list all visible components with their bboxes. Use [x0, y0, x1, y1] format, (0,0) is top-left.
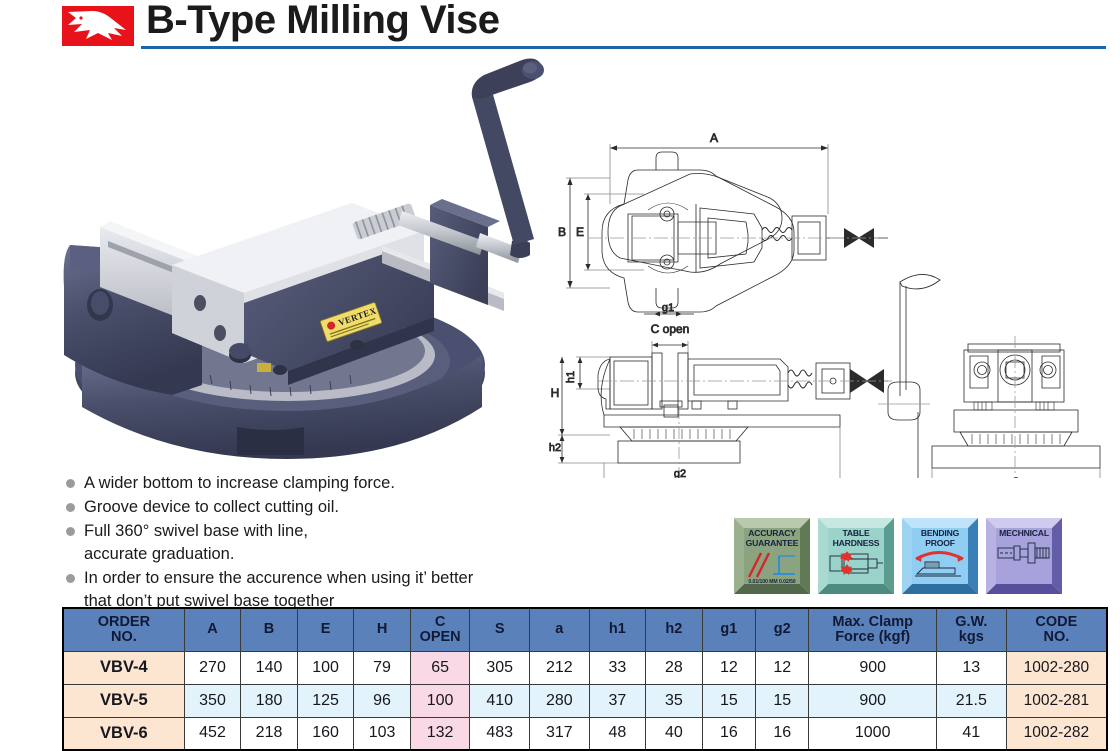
- col-max-clamp: Max. Clamp Force (kgf): [809, 608, 936, 651]
- vise-hardness-icon: [827, 550, 885, 576]
- cell-order-no: VBV-4: [63, 651, 184, 684]
- dim-label-a: a: [1013, 473, 1020, 478]
- table-header-row: ORDER NO. A B E H C OPEN S a h1 h2 g1 g2…: [63, 608, 1107, 651]
- drawing-front-view: a: [878, 274, 1100, 478]
- cell-gw: 13: [936, 651, 1006, 684]
- badge-label: ACCURACY GUARANTEE: [746, 528, 799, 548]
- eagle-head-logo-icon: [62, 6, 134, 46]
- col-c-open: C OPEN: [410, 608, 470, 651]
- cell-b: 218: [241, 717, 298, 750]
- cell-gw: 21.5: [936, 684, 1006, 717]
- cell-e: 125: [297, 684, 354, 717]
- cell-e: 100: [297, 651, 354, 684]
- cell-g1: 16: [702, 717, 755, 750]
- dim-label-E: E: [576, 225, 584, 239]
- feature-text: In order to ensure the accurence when us…: [84, 569, 473, 587]
- cell-h2: 28: [646, 651, 703, 684]
- feature-text: Full 360° swivel base with line,: [84, 522, 308, 540]
- cell-g2: 15: [756, 684, 809, 717]
- feature-badges: ACCURACY GUARANTEE 0.01/100 MM 0.02/50 T…: [734, 518, 1064, 596]
- cell-a-lower: 317: [530, 717, 590, 750]
- col-s: S: [470, 608, 530, 651]
- specification-table: ORDER NO. A B E H C OPEN S a h1 h2 g1 g2…: [62, 607, 1108, 751]
- cell-a: 270: [184, 651, 241, 684]
- bending-arrow-icon: [911, 550, 969, 578]
- list-item: Full 360° swivel base with line, accurat…: [64, 520, 584, 566]
- cell-max-clamp: 1000: [809, 717, 936, 750]
- cell-h1: 48: [589, 717, 646, 750]
- dim-label-h2: h2: [549, 442, 561, 454]
- cell-s: 305: [470, 651, 530, 684]
- col-a: A: [184, 608, 241, 651]
- feature-text: Groove device to collect cutting oil.: [84, 498, 339, 516]
- badge-label: TABLE HARDNESS: [833, 528, 880, 548]
- cell-b: 140: [241, 651, 298, 684]
- dim-label-g2: g2: [674, 468, 686, 478]
- dim-label-c-open: C open: [651, 322, 690, 336]
- technical-drawings: A B E: [548, 118, 1120, 478]
- dim-label-B: B: [558, 225, 566, 239]
- cell-h2: 35: [646, 684, 703, 717]
- table-row: VBV-6 452 218 160 103 132 483 317 48 40 …: [63, 717, 1107, 750]
- cell-h: 103: [354, 717, 411, 750]
- cell-code-no: 1002-280: [1006, 651, 1107, 684]
- col-h: H: [354, 608, 411, 651]
- cell-h: 96: [354, 684, 411, 717]
- cell-code-no: 1002-281: [1006, 684, 1107, 717]
- table-row: VBV-4 270 140 100 79 65 305 212 33 28 12…: [63, 651, 1107, 684]
- col-order-no: ORDER NO.: [63, 608, 184, 651]
- col-g1: g1: [702, 608, 755, 651]
- cell-s: 483: [470, 717, 530, 750]
- drawing-top-view: A B E: [558, 131, 888, 316]
- cell-order-no: VBV-5: [63, 684, 184, 717]
- col-a-lower: a: [530, 608, 590, 651]
- cell-order-no: VBV-6: [63, 717, 184, 750]
- cell-code-no: 1002-282: [1006, 717, 1107, 750]
- col-g2: g2: [756, 608, 809, 651]
- col-gw: G.W. kgs: [936, 608, 1006, 651]
- cell-g2: 12: [756, 651, 809, 684]
- bullet-icon: [66, 574, 75, 583]
- badge-accuracy-guarantee: ACCURACY GUARANTEE 0.01/100 MM 0.02/50: [734, 518, 810, 594]
- bullet-icon: [66, 527, 75, 536]
- badge-table-hardness: TABLE HARDNESS: [818, 518, 894, 594]
- bullet-icon: [66, 503, 75, 512]
- cell-g2: 16: [756, 717, 809, 750]
- col-b: B: [241, 608, 298, 651]
- dim-label-H: H: [551, 386, 560, 400]
- cell-gw: 41: [936, 717, 1006, 750]
- product-photo: VERTEX: [52, 55, 552, 465]
- cell-c-open: 65: [410, 651, 470, 684]
- drawing-side-view: C open h1 H: [549, 322, 892, 478]
- dim-label-h1: h1: [565, 371, 577, 383]
- cell-h1: 33: [589, 651, 646, 684]
- feature-text: A wider bottom to increase clamping forc…: [84, 474, 395, 492]
- cell-b: 180: [241, 684, 298, 717]
- cell-a: 452: [184, 717, 241, 750]
- cell-a: 350: [184, 684, 241, 717]
- dim-label-g1: g1: [662, 302, 674, 314]
- title-divider: [141, 46, 1106, 49]
- col-e: E: [297, 608, 354, 651]
- cell-g1: 15: [702, 684, 755, 717]
- list-item: A wider bottom to increase clamping forc…: [64, 472, 584, 495]
- cell-g1: 12: [702, 651, 755, 684]
- cell-e: 160: [297, 717, 354, 750]
- page-title: B-Type Milling Vise: [146, 0, 500, 43]
- bullet-icon: [66, 479, 75, 488]
- cell-a-lower: 280: [530, 684, 590, 717]
- badge-label: BENDING PROOF: [921, 528, 959, 548]
- badge-bending-proof: BENDING PROOF: [902, 518, 978, 594]
- col-code-no: CODE NO.: [1006, 608, 1107, 651]
- page-header: B-Type Milling Vise: [0, 0, 1120, 58]
- badge-mechnical: MECHNICAL: [986, 518, 1062, 594]
- cell-h2: 40: [646, 717, 703, 750]
- list-item: Groove device to collect cutting oil.: [64, 496, 584, 519]
- feature-list: A wider bottom to increase clamping forc…: [64, 472, 584, 614]
- cell-a-lower: 212: [530, 651, 590, 684]
- dim-label-A: A: [710, 131, 718, 145]
- cell-c-open: 100: [410, 684, 470, 717]
- spindle-icon: [995, 540, 1053, 566]
- badge-label: MECHNICAL: [999, 528, 1049, 538]
- cell-c-open: 132: [410, 717, 470, 750]
- cell-h1: 37: [589, 684, 646, 717]
- table-row: VBV-5 350 180 125 96 100 410 280 37 35 1…: [63, 684, 1107, 717]
- feature-text-cont: accurate graduation.: [84, 543, 584, 566]
- cell-max-clamp: 900: [809, 651, 936, 684]
- col-h1: h1: [589, 608, 646, 651]
- cell-h: 79: [354, 651, 411, 684]
- col-h2: h2: [646, 608, 703, 651]
- cell-s: 410: [470, 684, 530, 717]
- accuracy-lines-icon: [743, 550, 801, 580]
- cell-max-clamp: 900: [809, 684, 936, 717]
